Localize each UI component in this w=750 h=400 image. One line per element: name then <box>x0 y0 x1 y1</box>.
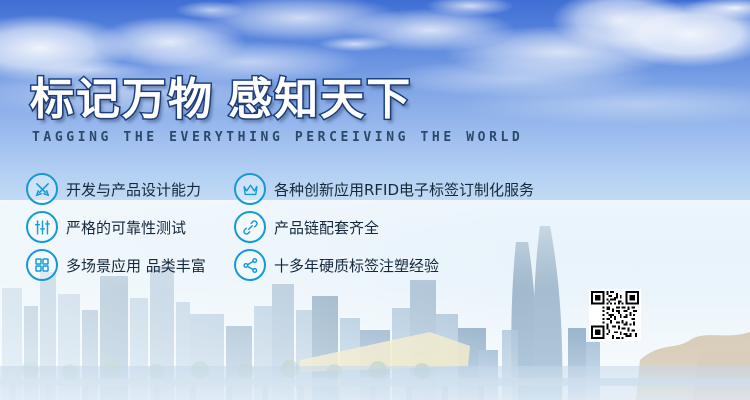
sliders-icon <box>26 211 58 243</box>
feature-item-reliability-test: 严格的可靠性测试 <box>26 211 234 243</box>
link-icon <box>234 211 266 243</box>
feature-row: 多场景应用 品类丰富 十多年硬质标签注塑经验 <box>26 246 566 284</box>
page-title: 标记万物 感知天下 <box>30 74 412 126</box>
feature-item-multi-scenario: 多场景应用 品类丰富 <box>26 249 234 281</box>
feature-label: 十多年硬质标签注塑经验 <box>274 255 439 276</box>
feature-label: 产品链配套齐全 <box>274 217 379 238</box>
feature-label: 各种创新应用RFID电子标签订制化服务 <box>274 179 534 200</box>
page-subtitle: TAGGING THE EVERYTHING PERCEIVING THE WO… <box>32 130 523 145</box>
feature-item-product-chain: 产品链配套齐全 <box>234 211 564 243</box>
crown-icon <box>234 173 266 205</box>
feature-item-rfid-service: 各种创新应用RFID电子标签订制化服务 <box>234 173 564 205</box>
feature-label: 开发与产品设计能力 <box>66 179 201 200</box>
feature-label: 严格的可靠性测试 <box>66 217 186 238</box>
qr-code[interactable] <box>589 289 641 341</box>
feature-list: 开发与产品设计能力 各种创新应用RFID电子标签订制化服务 <box>26 170 566 284</box>
grid-icon <box>26 249 58 281</box>
feature-row: 严格的可靠性测试 产品链配套齐全 <box>26 208 566 246</box>
share-icon <box>234 249 266 281</box>
feature-label: 多场景应用 品类丰富 <box>66 255 206 276</box>
feature-item-molding-experience: 十多年硬质标签注塑经验 <box>234 249 564 281</box>
tools-icon <box>26 173 58 205</box>
feature-item-development: 开发与产品设计能力 <box>26 173 234 205</box>
banner-image: 标记万物 感知天下 TAGGING THE EVERYTHING PERCEIV… <box>0 0 750 400</box>
water-band <box>0 366 750 400</box>
feature-row: 开发与产品设计能力 各种创新应用RFID电子标签订制化服务 <box>26 170 566 208</box>
